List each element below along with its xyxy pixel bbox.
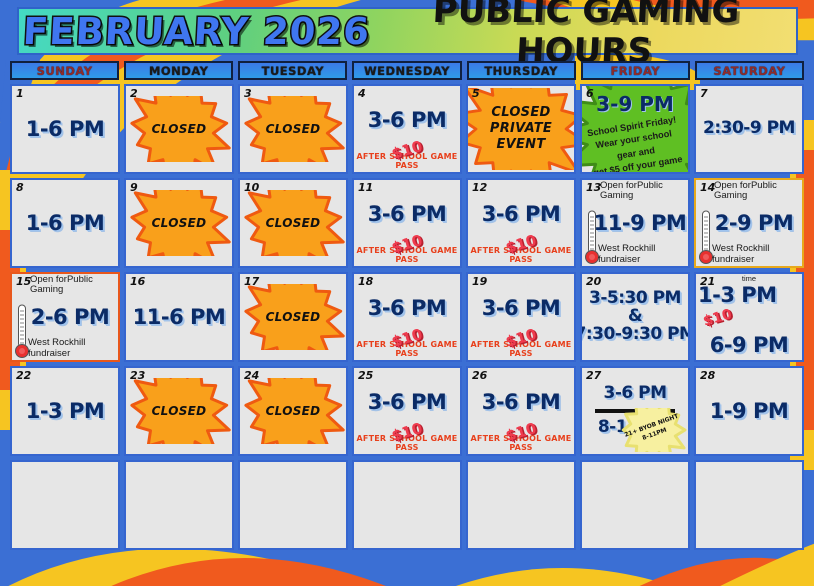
hours-text: 3-6 PM (368, 391, 447, 413)
closed-label: CLOSED (152, 404, 207, 419)
split-hours-block: $5 off Game Pass during this time1-3 PM$… (698, 276, 800, 358)
day-number: 13 (586, 181, 601, 194)
calendar-cell-day-9[interactable]: 9CLOSED (124, 178, 234, 268)
calendar-cell-day-6[interactable]: 63-9 PMSchool Spirit Friday!Wear your sc… (580, 84, 690, 174)
day-number: 10 (244, 181, 259, 194)
calendar-cell-day-4[interactable]: 4$10AFTER SCHOOL GAME PASS3-6 PM (352, 84, 462, 174)
cell-content: 1-6 PM (14, 88, 116, 170)
hours-text: 1-9 PM (710, 400, 789, 422)
calendar-cell-day-1[interactable]: 11-6 PM (10, 84, 120, 174)
cell-content: CLOSEDPRIVATEEVENT (470, 88, 572, 170)
hours-text: 1-3 PM (26, 400, 105, 422)
weekday-header-thursday: THURSDAY (467, 61, 576, 80)
closed-label: CLOSED (266, 404, 321, 419)
hours-text: 11-6 PM (133, 306, 226, 328)
hours-text-second: 7:30-9:30 PM (580, 326, 690, 344)
calendar-cell-day-17[interactable]: 17CLOSED (238, 272, 348, 362)
calendar-cell-day-24[interactable]: 24CLOSED (238, 366, 348, 456)
day-number: 20 (586, 275, 601, 288)
calendar-cell-day-19[interactable]: 19$10AFTER SCHOOL GAME PASS3-6 PM (466, 272, 576, 362)
day-number: 17 (244, 275, 259, 288)
day-number: 19 (472, 275, 487, 288)
cell-content (128, 464, 230, 546)
calendar-cell-day-13[interactable]: 13Open forPublic GamingWest Rockhill fun… (580, 178, 690, 268)
fundraiser-note: West Rockhill fundraiser (598, 243, 686, 265)
hours-text: 3-6 PM (482, 203, 561, 225)
day-number: 11 (358, 181, 373, 194)
hours-text: 2:30-9 PM (703, 120, 795, 138)
cell-content (470, 464, 572, 546)
calendar-grid: 11-6 PM2CLOSED3CLOSED4$10AFTER SCHOOL GA… (10, 84, 804, 550)
hours-text: 1-6 PM (26, 212, 105, 234)
cell-content (242, 464, 344, 546)
hours-text: 3-9 PM (582, 92, 688, 116)
day-number: 2 (130, 87, 138, 100)
calendar-cell-day-28[interactable]: 281-9 PM (694, 366, 804, 456)
weekday-header-friday: FRIDAY (581, 61, 690, 80)
calendar-cell-empty[interactable] (10, 460, 120, 550)
day-number: 28 (700, 369, 715, 382)
day-number: 21 (700, 275, 715, 288)
calendar-cell-day-23[interactable]: 23CLOSED (124, 366, 234, 456)
day-number: 16 (130, 275, 145, 288)
cell-content (14, 464, 116, 546)
calendar-cell-empty[interactable] (580, 460, 690, 550)
day-number: 24 (244, 369, 259, 382)
hours-text: 3-6 PM (368, 297, 447, 319)
day-number: 23 (130, 369, 145, 382)
calendar-cell-day-25[interactable]: 25$10AFTER SCHOOL GAME PASS3-6 PM (352, 366, 462, 456)
day-number: 7 (700, 87, 708, 100)
open-for-public-gaming-note: Open forPublic Gaming (600, 181, 686, 202)
cell-content: 11-6 PM (128, 276, 230, 358)
closed-label: CLOSED (266, 216, 321, 231)
calendar-cell-empty[interactable] (124, 460, 234, 550)
calendar-cell-day-18[interactable]: 18$10AFTER SCHOOL GAME PASS3-6 PM (352, 272, 462, 362)
cell-content: CLOSED (242, 370, 344, 452)
regular-price-note: Regular Gamp Pass price (706, 359, 792, 362)
day-number: 12 (472, 181, 487, 194)
calendar-cell-day-26[interactable]: 26$10AFTER SCHOOL GAME PASS3-6 PM (466, 366, 576, 456)
cell-content: CLOSED (128, 88, 230, 170)
hours-text: 2-6 PM (31, 306, 110, 328)
calendar-cell-empty[interactable] (466, 460, 576, 550)
weekday-header-sunday: SUNDAY (10, 61, 119, 80)
price-tag-10: $10 (701, 307, 734, 330)
calendar-cell-day-16[interactable]: 1611-6 PM (124, 272, 234, 362)
day-number: 25 (358, 369, 373, 382)
calendar-cell-day-7[interactable]: 72:30-9 PM (694, 84, 804, 174)
byob-night-badge: 21+ BYOB NIGHT8-11PM (618, 408, 688, 452)
closed-starburst-icon: CLOSED (127, 378, 231, 444)
open-for-public-gaming-note: Open forPublic Gaming (30, 275, 116, 296)
closed-label: CLOSED (266, 310, 321, 325)
closed-private-event-starburst-icon: CLOSEDPRIVATEEVENT (466, 88, 576, 170)
cell-content: 2:30-9 PM (698, 88, 800, 170)
cell-content: CLOSED (128, 182, 230, 264)
hours-text: 2-9 PM (715, 212, 794, 234)
hours-text: 3-6 PM (368, 109, 447, 131)
cell-content: 3-5:30 PM&7:30-9:30 PM (584, 276, 686, 358)
cell-content (356, 464, 458, 546)
day-number: 18 (358, 275, 373, 288)
hours-text-second: 6-9 PM (710, 334, 789, 356)
day-number: 4 (358, 87, 366, 100)
day-number: 27 (586, 369, 601, 382)
day-number: 3 (244, 87, 252, 100)
calendar-cell-day-11[interactable]: 11$10AFTER SCHOOL GAME PASS3-6 PM (352, 178, 462, 268)
calendar-cell-day-10[interactable]: 10CLOSED (238, 178, 348, 268)
closed-starburst-icon: CLOSED (241, 190, 345, 256)
cell-content: CLOSED (242, 88, 344, 170)
day-number: 8 (16, 181, 24, 194)
weekday-header-row: SUNDAY MONDAY TUESDAY WEDNESDAY THURSDAY… (10, 61, 804, 80)
day-number: 26 (472, 369, 487, 382)
calendar-cell-day-12[interactable]: 12$10AFTER SCHOOL GAME PASS3-6 PM (466, 178, 576, 268)
cell-content: CLOSED (242, 182, 344, 264)
calendar-cell-empty[interactable] (238, 460, 348, 550)
hours-text: 3-6 PM (482, 297, 561, 319)
calendar-cell-day-8[interactable]: 81-6 PM (10, 178, 120, 268)
closed-label: CLOSED (152, 216, 207, 231)
hours-text: 3-6 PM (368, 203, 447, 225)
cell-content: 1-6 PM (14, 182, 116, 264)
open-for-public-gaming-note: Open forPublic Gaming (714, 181, 800, 202)
calendar-cell-empty[interactable] (352, 460, 462, 550)
calendar-cell-day-22[interactable]: 221-3 PM (10, 366, 120, 456)
closed-private-event-label: CLOSEDPRIVATEEVENT (490, 105, 552, 154)
day-number: 1 (16, 87, 24, 100)
calendar-cell-day-14[interactable]: 14Open forPublic GamingWest Rockhill fun… (694, 178, 804, 268)
day-number: 5 (472, 87, 480, 100)
closed-starburst-icon: CLOSED (241, 284, 345, 350)
fundraiser-note: West Rockhill fundraiser (28, 337, 116, 359)
hours-text-first: 3-6 PM (603, 385, 666, 403)
closed-label: CLOSED (266, 122, 321, 137)
closed-starburst-icon: CLOSED (127, 96, 231, 162)
title-banner: FEBRUARY 2026 PUBLIC GAMING HOURS (17, 7, 798, 55)
calendar-cell-day-5[interactable]: 5CLOSEDPRIVATEEVENT (466, 84, 576, 174)
day-number: 9 (130, 181, 138, 194)
calendar-cell-day-15[interactable]: 15Open forPublic GamingWest Rockhill fun… (10, 272, 120, 362)
fundraiser-note: West Rockhill fundraiser (712, 243, 800, 265)
calendar-cell-day-3[interactable]: 3CLOSED (238, 84, 348, 174)
weekday-header-tuesday: TUESDAY (238, 61, 347, 80)
cell-content: 1-9 PM (698, 370, 800, 452)
hours-row-first: 1-3 PM$10 (698, 284, 800, 326)
cell-content: 1-3 PM (14, 370, 116, 452)
calendar-cell-day-21[interactable]: 21$5 off Game Pass during this time1-3 P… (694, 272, 804, 362)
closed-starburst-icon: CLOSED (241, 378, 345, 444)
month-title: FEBRUARY 2026 (18, 10, 375, 53)
calendar-cell-day-27[interactable]: 2721+ BYOB NIGHT8-11PM3-6 PM8-11 PM (580, 366, 690, 456)
cell-content: CLOSED (242, 276, 344, 358)
hours-text: 1-6 PM (26, 118, 105, 140)
calendar-cell-empty[interactable] (694, 460, 804, 550)
day-number: 15 (16, 275, 31, 288)
hours-text: 3-6 PM (482, 391, 561, 413)
weekday-header-monday: MONDAY (124, 61, 233, 80)
closed-starburst-icon: CLOSED (241, 96, 345, 162)
weekday-header-saturday: SATURDAY (695, 61, 804, 80)
cell-content: CLOSED (128, 370, 230, 452)
closed-starburst-icon: CLOSED (127, 190, 231, 256)
closed-label: CLOSED (152, 122, 207, 137)
calendar-cell-day-2[interactable]: 2CLOSED (124, 84, 234, 174)
day-number: 14 (700, 181, 715, 194)
cell-content (584, 464, 686, 546)
cell-content (698, 464, 800, 546)
cell-content: $5 off Game Pass during this time1-3 PM$… (698, 276, 800, 358)
weekday-header-wednesday: WEDNESDAY (352, 61, 461, 80)
calendar-cell-day-20[interactable]: 203-5:30 PM&7:30-9:30 PM (580, 272, 690, 362)
calendar-poster: FEBRUARY 2026 PUBLIC GAMING HOURS SUNDAY… (0, 0, 814, 586)
hours-text: 11-9 PM (594, 212, 687, 234)
day-number: 22 (16, 369, 31, 382)
